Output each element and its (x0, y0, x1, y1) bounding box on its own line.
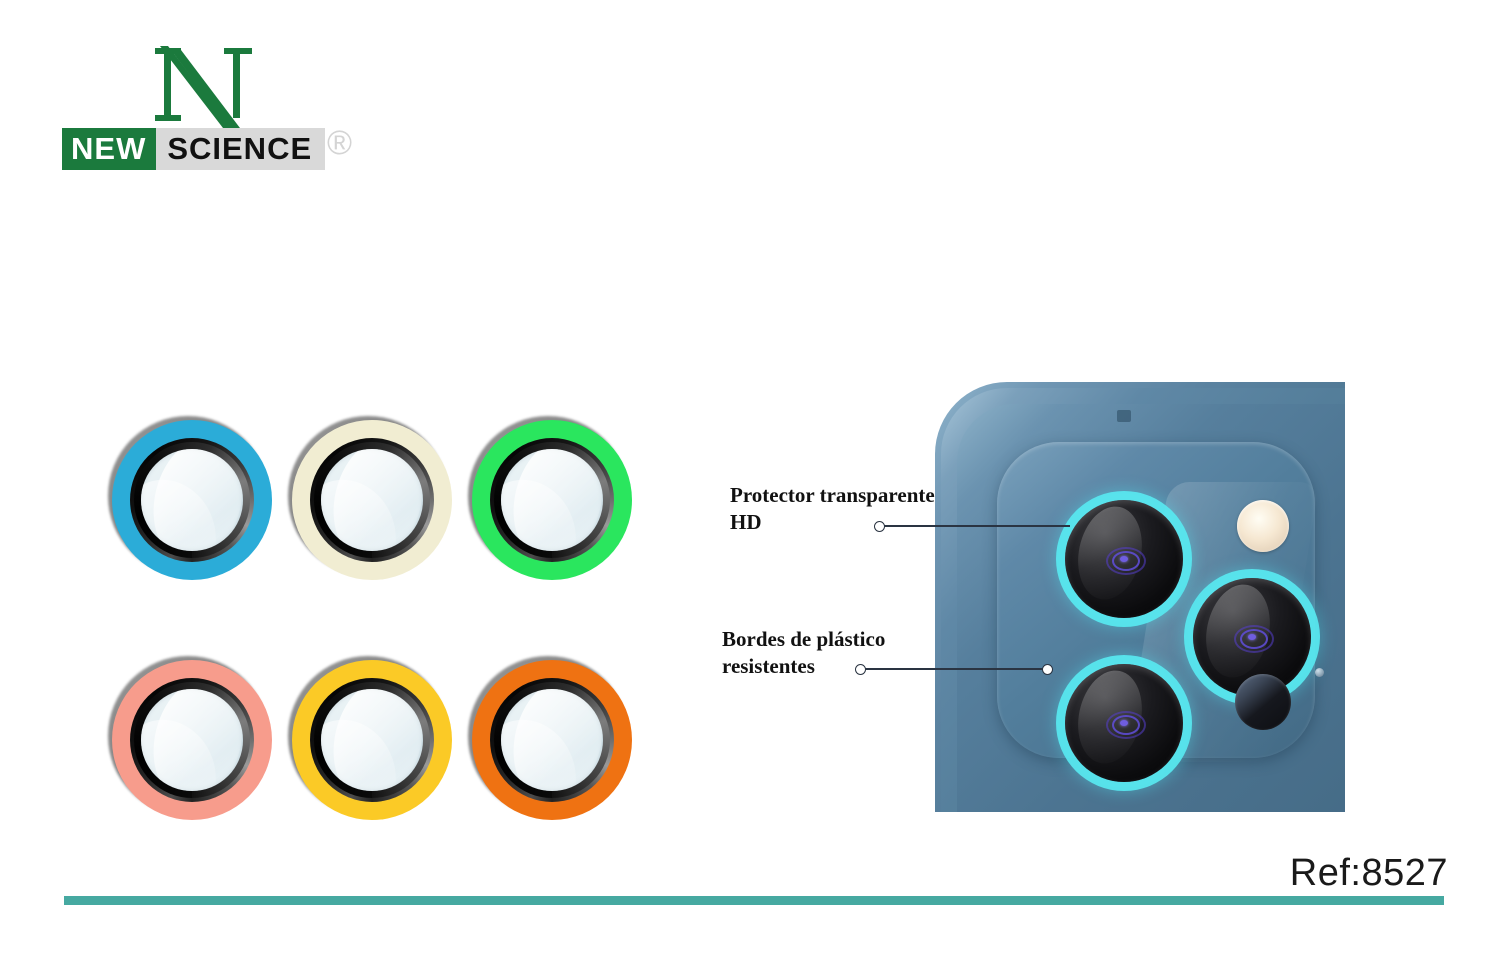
logo-word-science: SCIENCE (156, 128, 325, 170)
footer-divider (64, 896, 1444, 905)
callout-label-protector-hd: Protector transparente HD (730, 482, 960, 536)
lens-core-icon (1104, 546, 1144, 572)
phone-edge (941, 388, 1345, 812)
product-sheet: ® NEW SCIENCE (0, 0, 1500, 967)
callout-label-bordes-plastico: Bordes de plástico resistentes (722, 626, 962, 680)
lens-core-icon (1232, 624, 1272, 650)
antenna-band (1117, 410, 1131, 422)
registered-trademark-icon: ® (327, 126, 352, 160)
camera-lens-top-left (1065, 500, 1183, 618)
lens-glass (141, 689, 243, 791)
camera-island (997, 442, 1315, 758)
lens-protector-grid (100, 410, 660, 830)
lens-core-icon (1104, 710, 1144, 736)
lens-glass (501, 689, 603, 791)
led-flash-icon (1237, 500, 1289, 552)
phone-back-panel (957, 404, 1345, 812)
callout-marker-end (1042, 664, 1053, 675)
lidar-sensor-icon (1235, 674, 1291, 730)
phone-photo (935, 382, 1345, 812)
lens-protector-orange[interactable] (472, 660, 632, 820)
callout-leader-line (884, 525, 1070, 527)
lens-glass (321, 689, 423, 791)
lens-protector-yellow[interactable] (292, 660, 452, 820)
lens-protector-cream[interactable] (292, 420, 452, 580)
lens-glass (501, 449, 603, 551)
reference-number: Ref:8527 (1290, 852, 1448, 895)
camera-lens-bottom-left (1065, 664, 1183, 782)
logo-n-icon (147, 44, 267, 129)
lens-glass (321, 449, 423, 551)
lens-protector-blue[interactable] (112, 420, 272, 580)
logo-word-new: NEW (62, 128, 156, 170)
callout-leader-line (865, 668, 1047, 670)
logo-wordmark: NEW SCIENCE (62, 128, 325, 170)
lens-protector-green[interactable] (472, 420, 632, 580)
lens-protector-pink[interactable] (112, 660, 272, 820)
microphone-icon (1315, 668, 1324, 677)
phone-body (935, 382, 1345, 812)
brand-logo: ® NEW SCIENCE (62, 44, 382, 174)
lens-glass (141, 449, 243, 551)
